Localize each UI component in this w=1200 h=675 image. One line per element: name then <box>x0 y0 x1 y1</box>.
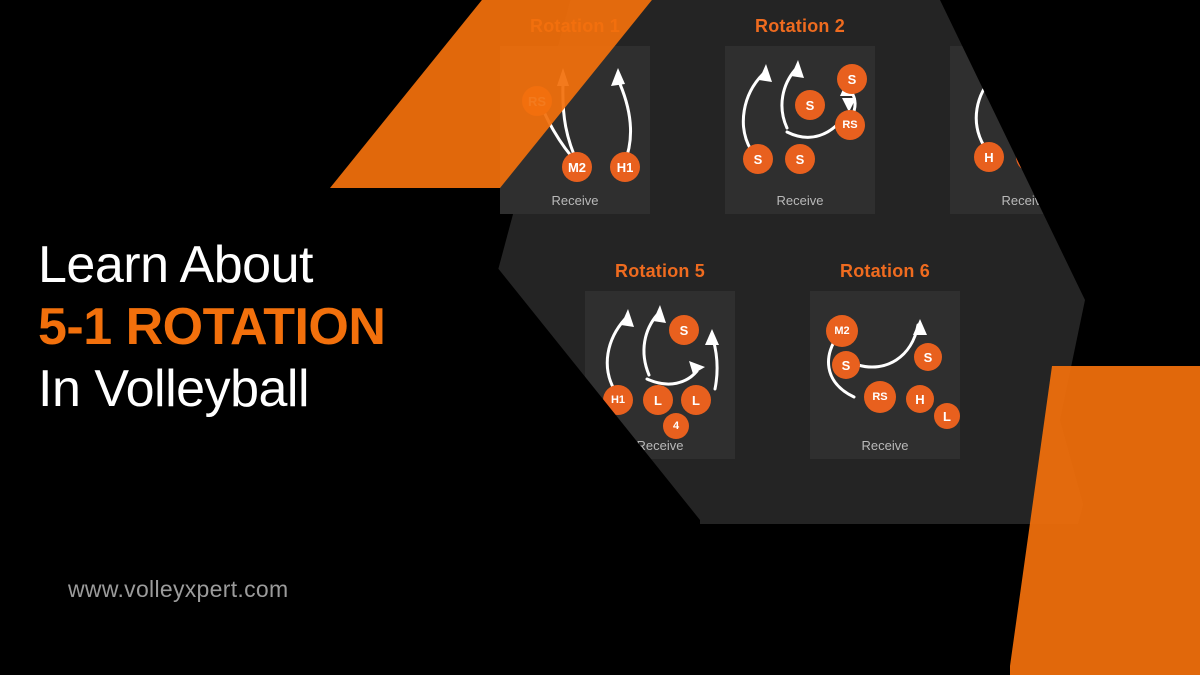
player-marker[interactable]: S <box>785 144 815 174</box>
player-marker[interactable]: S <box>795 90 825 120</box>
rotation-card-6-arrows <box>810 291 960 459</box>
rotation-card-2-title: Rotation 2 <box>705 16 895 37</box>
slide-canvas: Rotation 1 RS M2 H1 Receive <box>0 0 1200 675</box>
rotation-card-6-title: Rotation 6 <box>790 261 980 282</box>
player-marker[interactable]: M2 <box>826 315 858 347</box>
player-marker[interactable]: S <box>743 144 773 174</box>
player-marker[interactable]: S <box>832 351 860 379</box>
player-marker[interactable]: S <box>669 315 699 345</box>
player-marker[interactable]: H <box>974 142 1004 172</box>
headline-block: Learn About 5-1 ROTATION In Volleyball <box>38 236 385 421</box>
player-marker[interactable]: H1 <box>610 152 640 182</box>
rotation-card-2-court: S S RS S S Receive <box>725 46 875 214</box>
rotation-card-2[interactable]: Rotation 2 S S RS S <box>705 0 895 224</box>
player-marker[interactable]: L <box>934 403 960 429</box>
headline-line-3: In Volleyball <box>38 359 385 420</box>
player-marker[interactable]: L <box>643 385 673 415</box>
player-marker[interactable]: RS <box>835 110 865 140</box>
player-marker[interactable]: M2 <box>562 152 592 182</box>
website-url: www.volleyxpert.com <box>68 576 288 603</box>
headline-line-2: 5-1 ROTATION <box>38 296 385 359</box>
player-marker[interactable]: H <box>906 385 934 413</box>
rotation-card-6-court: M2 S RS S H L Receive <box>810 291 960 459</box>
rotation-card-1-caption: Receive <box>500 193 650 208</box>
player-marker[interactable]: S <box>837 64 867 94</box>
headline-line-1: Learn About <box>38 236 385 296</box>
rotation-card-5-title: Rotation 5 <box>565 261 755 282</box>
player-marker[interactable]: 4 <box>663 413 689 439</box>
rotation-card-2-caption: Receive <box>725 193 875 208</box>
player-marker[interactable]: RS <box>864 381 896 413</box>
rotation-card-6[interactable]: Rotation 6 M2 S RS S H L Receive <box>790 239 980 469</box>
player-marker[interactable]: L <box>681 385 711 415</box>
player-marker[interactable]: S <box>914 343 942 371</box>
rotation-card-6-caption: Receive <box>810 438 960 453</box>
